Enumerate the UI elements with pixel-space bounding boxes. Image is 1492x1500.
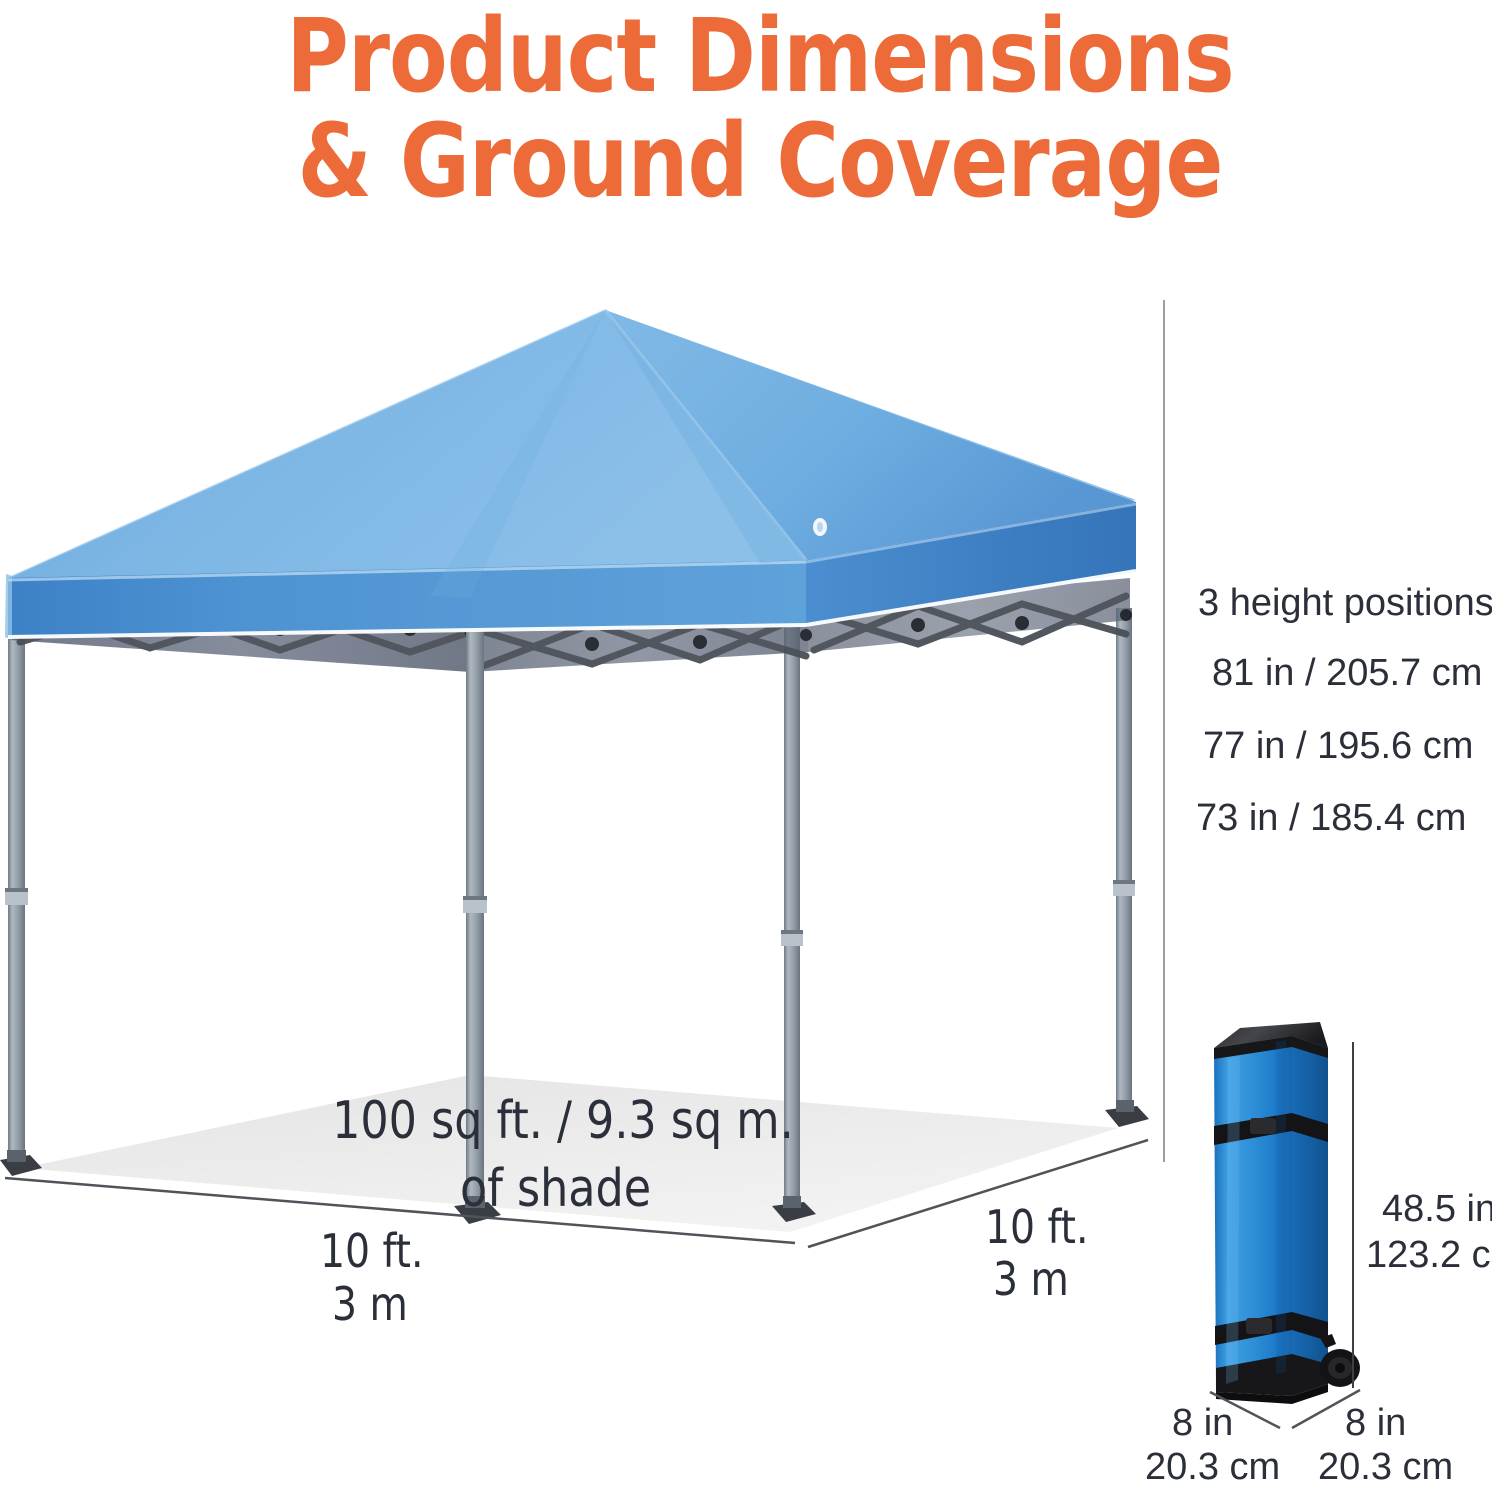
bag-width-imperial: 8 in <box>1172 1400 1233 1446</box>
shade-area-line-2: of shade <box>460 1160 651 1218</box>
product-dimensions-infographic: Product Dimensions & Ground Coverage <box>0 0 1492 1500</box>
height-position-2: 77 in / 195.6 cm <box>1203 723 1473 769</box>
bag-depth-metric: 20.3 cm <box>1318 1444 1453 1490</box>
tent-leg-right <box>1105 608 1149 1127</box>
ground-side-imperial: 10 ft. <box>985 1198 1088 1256</box>
bag-height-metric: 123.2 cm <box>1366 1232 1492 1278</box>
height-position-3: 73 in / 185.4 cm <box>1196 795 1466 841</box>
title-line-1: Product Dimensions <box>211 4 1308 109</box>
height-positions-heading: 3 height positions <box>1198 580 1492 626</box>
carry-bag-icon <box>1180 1000 1410 1420</box>
tent-leg-back-left <box>0 600 42 1176</box>
page-title: Product Dimensions & Ground Coverage <box>170 4 1350 214</box>
canopy-fabric <box>5 310 1136 640</box>
bag-height-dimension-line <box>1352 1042 1354 1388</box>
height-dimension-line <box>1163 300 1165 1162</box>
bag-height-imperial: 48.5 in <box>1382 1186 1492 1232</box>
bag-depth-imperial: 8 in <box>1345 1400 1406 1446</box>
title-line-2: & Ground Coverage <box>211 109 1308 214</box>
ground-front-imperial: 10 ft. <box>320 1222 423 1280</box>
height-position-1: 81 in / 205.7 cm <box>1212 650 1482 696</box>
ground-side-metric: 3 m <box>993 1250 1069 1308</box>
shade-area-line-1: 100 sq ft. / 9.3 sq m. <box>332 1092 794 1150</box>
canopy-truss-frame <box>10 578 1132 672</box>
bag-width-metric: 20.3 cm <box>1145 1444 1280 1490</box>
ground-front-metric: 3 m <box>332 1275 408 1333</box>
